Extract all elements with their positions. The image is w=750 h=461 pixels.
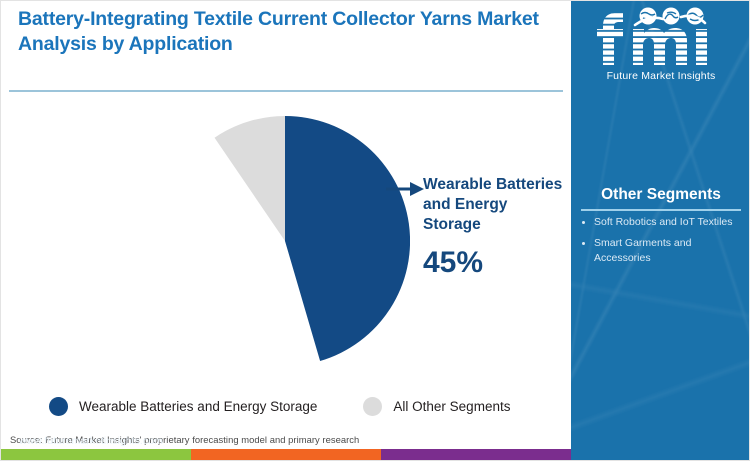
logo-tagline: Future Market Insights [571, 70, 750, 82]
pie-slice-wearable-batteries[interactable] [285, 116, 410, 361]
strip-segment-orange [191, 449, 381, 460]
fmi-globe-logo-icon [591, 7, 731, 69]
strip-segment-green [1, 449, 191, 460]
page-title-line-2: Yarns Market [420, 8, 539, 30]
callout-label: Wearable Batteries and Energy Storage [423, 175, 565, 235]
legend-label: Wearable Batteries and Energy Storage [79, 399, 317, 414]
strip-segment-blue [571, 449, 750, 460]
page-title-line-1: Battery-Integrating Textile Current Coll… [18, 8, 415, 30]
callout-value: 45% [423, 246, 483, 280]
legend-label: All Other Segments [393, 399, 510, 414]
strip-segment-purple [381, 449, 571, 460]
main-content-area: Battery-Integrating Textile Current Coll… [1, 1, 571, 449]
fmi-logo[interactable]: Future Market Insights [571, 7, 750, 82]
pie-chart [160, 116, 410, 366]
legend-item-wearable-batteries[interactable]: Wearable Batteries and Energy Storage [49, 397, 317, 416]
other-segments-item: Soft Robotics and IoT Textiles [579, 215, 743, 230]
legend-item-all-other-segments[interactable]: All Other Segments [363, 397, 510, 416]
other-segments-item: Smart Garments and Accessories [579, 236, 743, 266]
chart-legend: Wearable Batteries and Energy Storage Al… [49, 397, 510, 416]
arrow-right-icon [386, 181, 424, 197]
bottom-color-strip [1, 449, 750, 460]
header-divider [9, 90, 563, 92]
page-title: Battery-Integrating Textile Current Coll… [18, 7, 558, 57]
other-segments-list: Soft Robotics and IoT Textiles Smart Gar… [579, 215, 743, 272]
legend-swatch-icon [49, 397, 68, 416]
website-url[interactable]: www.futuremarketinsights.com [1, 435, 181, 447]
infographic-canvas: Battery-Integrating Textile Current Coll… [0, 0, 750, 461]
other-segments-title: Other Segments [571, 186, 750, 204]
legend-swatch-icon [363, 397, 382, 416]
other-segments-divider [581, 209, 741, 211]
page-title-line-3: Analysis by Application [18, 32, 558, 57]
pie-chart-svg [160, 116, 410, 366]
